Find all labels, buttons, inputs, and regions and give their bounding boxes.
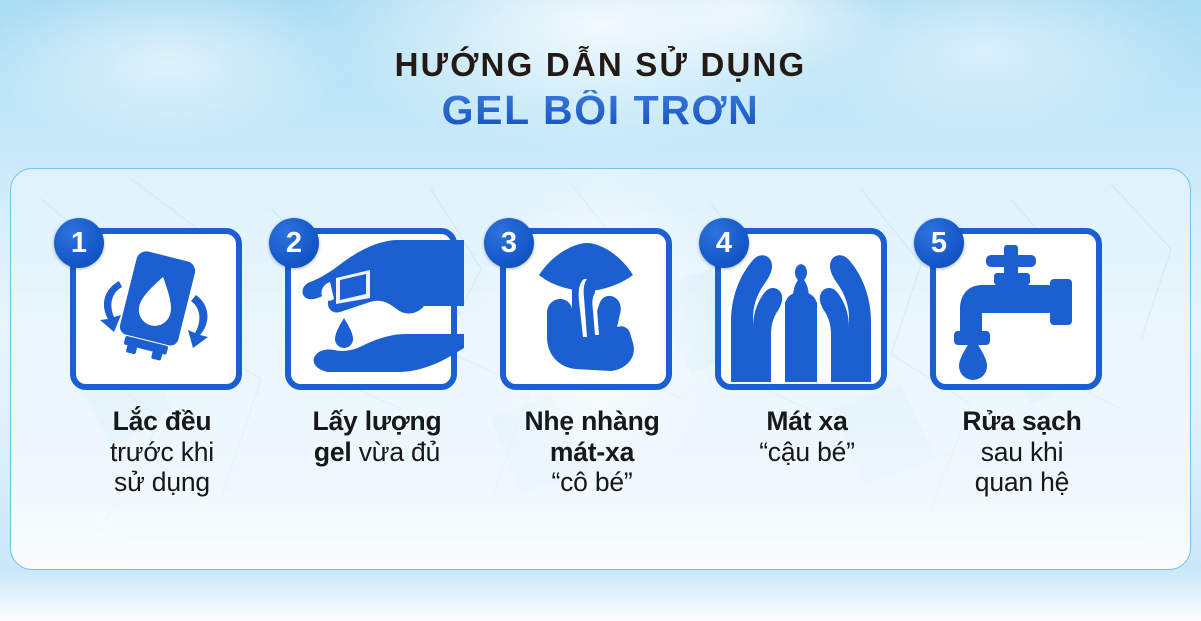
caption-rest-4: “cậu bé” — [707, 437, 907, 468]
caption-rest-1b: sử dụng — [62, 467, 262, 498]
step-number-badge-3: 3 — [484, 218, 534, 268]
step-caption-3: Nhẹ nhàng mát-xa “cô bé” — [492, 406, 692, 498]
poster-root: HƯỚNG DẪN SỬ DỤNG GEL BÔI TRƠN — [0, 0, 1201, 621]
step-caption-2: Lấy lượng gel vừa đủ — [277, 406, 477, 467]
caption-bold-2b: gel — [314, 437, 352, 467]
step-card-2[interactable]: 2 — [285, 228, 457, 390]
caption-bold-1: Lắc đều — [62, 406, 262, 437]
caption-bold-4: Mát xa — [707, 406, 907, 437]
caption-rest-3: “cô bé” — [492, 467, 692, 498]
page-title: HƯỚNG DẪN SỬ DỤNG — [0, 48, 1201, 81]
faucet-wash-icon — [946, 241, 1086, 377]
caption-rest-5a: sau khi — [922, 437, 1122, 468]
step-caption-1: Lắc đều trước khi sử dụng — [62, 406, 262, 498]
page-subtitle: GEL BÔI TRƠN — [0, 90, 1201, 131]
caption-rest-1a: trước khi — [62, 437, 262, 468]
caption-bold-5: Rửa sạch — [922, 406, 1122, 437]
step-item-2[interactable]: 2 — [277, 228, 477, 467]
step-card-5[interactable]: 5 — [930, 228, 1102, 390]
caption-rest-2: vừa đủ — [359, 437, 440, 467]
step-number-badge-5: 5 — [914, 218, 964, 268]
step-caption-4: Mát xa “cậu bé” — [707, 406, 907, 467]
step-card-1[interactable]: 1 — [70, 228, 242, 390]
hands-massage-icon — [721, 236, 881, 382]
step-item-1[interactable]: 1 — [62, 228, 262, 498]
step-caption-5: Rửa sạch sau khi quan hệ — [922, 406, 1122, 498]
step-number-badge-2: 2 — [269, 218, 319, 268]
caption-line-2b: gel vừa đủ — [277, 437, 477, 468]
step-number-badge-1: 1 — [54, 218, 104, 268]
caption-bold-3b: mát-xa — [492, 437, 692, 468]
step-card-4[interactable]: 4 — [715, 228, 887, 390]
step-item-5[interactable]: 5 — [922, 228, 1122, 498]
caption-bold-2: Lấy lượng — [277, 406, 477, 437]
heading-block: HƯỚNG DẪN SỬ DỤNG GEL BÔI TRƠN — [0, 48, 1201, 131]
gel-tube-shake-icon — [86, 243, 226, 375]
step-item-3[interactable]: 3 Nhẹ nhàng mát-xa “cô bé” — [492, 228, 692, 498]
two-finger-massage-icon — [521, 239, 651, 379]
caption-rest-5b: quan hệ — [922, 467, 1122, 498]
step-card-3[interactable]: 3 — [500, 228, 672, 390]
step-item-4[interactable]: 4 Mát xa — [707, 228, 907, 467]
caption-bold-3: Nhẹ nhàng — [492, 406, 692, 437]
step-number-badge-4: 4 — [699, 218, 749, 268]
